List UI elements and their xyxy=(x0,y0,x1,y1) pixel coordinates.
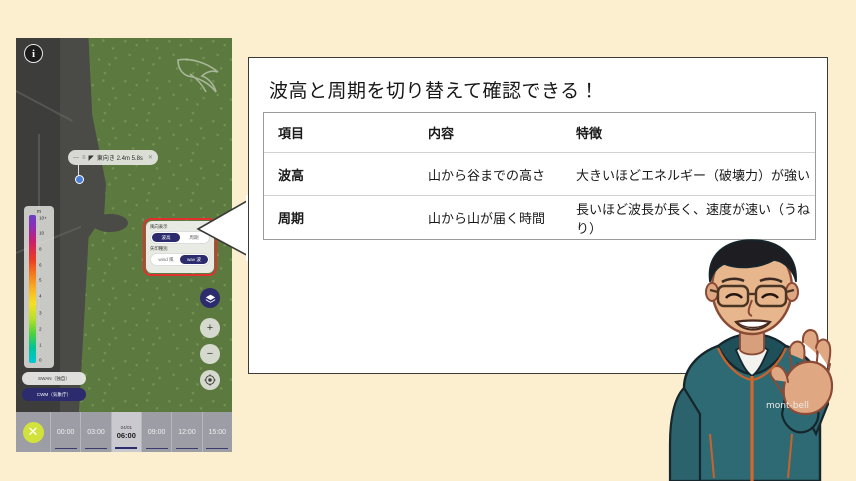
timeline-slot-time: 00:00 xyxy=(57,428,75,437)
table-row: 波高 山から谷までの高さ 大きいほどエネルギー（破壊力）が強い xyxy=(264,153,815,196)
legend-tick: 10+ xyxy=(39,215,47,220)
legend-tick: 8 xyxy=(39,247,42,252)
comparison-table: 項目 内容 特徴 波高 山から谷までの高さ 大きいほどエネルギー（破壊力）が強い… xyxy=(263,112,816,240)
column-header-feature: 特徴 xyxy=(576,123,815,142)
close-icon[interactable]: ✕ xyxy=(148,154,153,161)
page-title: 波高と周期を切り替えて確認できる！ xyxy=(269,76,599,103)
column-header-item: 項目 xyxy=(278,123,428,142)
legend-tick: 2 xyxy=(39,326,42,331)
timeline-slot-time: 09:00 xyxy=(148,428,166,437)
timeline-slot[interactable]: 15:00 xyxy=(202,412,232,452)
cell-item: 周期 xyxy=(278,208,428,227)
jacket-brand-label: mont-bell xyxy=(766,401,809,411)
layers-glyph xyxy=(205,293,216,304)
legend-tick: 3 xyxy=(39,310,42,315)
timeline-slot[interactable]: 09:00 xyxy=(141,412,171,452)
zoom-in-label: + xyxy=(207,322,213,334)
model-button-cwm[interactable]: CWM（気象庁） xyxy=(22,388,86,401)
layers-icon[interactable] xyxy=(200,288,220,308)
cell-feature: 長いほど波長が長く、速度が速い（うねり） xyxy=(576,199,815,237)
map-headland xyxy=(92,214,128,232)
timeline-slot-time: 12:00 xyxy=(178,428,196,437)
table-row: 周期 山から山が届く時間 長いほど波長が長く、速度が速い（うねり） xyxy=(264,196,815,239)
legend-tick: 10 xyxy=(39,230,44,235)
cell-content: 山から山が届く時間 xyxy=(428,208,576,227)
legend-tick-list: 10+ 10 8 6 5 4 3 2 1 0 xyxy=(38,215,52,363)
timeline-slot[interactable]: 12:00 xyxy=(171,412,201,452)
timeline-slot-selected[interactable]: 04/01 06:00 xyxy=(111,412,141,452)
legend-tick: 5 xyxy=(39,278,42,283)
presenter-illustration: mont-bell xyxy=(648,238,856,481)
timeline-slot-list[interactable]: 00:00 03:00 04/01 06:00 09:00 12:00 xyxy=(50,412,232,452)
timeline-slot-time: 03:00 xyxy=(87,428,105,437)
close-icon: ✕ xyxy=(23,422,44,443)
info-icon-label: i xyxy=(32,48,35,60)
legend-tick: 1 xyxy=(39,343,42,348)
column-header-content: 内容 xyxy=(428,123,576,142)
timeline-slot-time: 15:00 xyxy=(209,428,227,437)
chip-dash-icon: — xyxy=(73,155,79,161)
map-pin-dot[interactable] xyxy=(75,175,84,184)
cell-item: 波高 xyxy=(278,165,428,184)
chip-value-text: 東向き 2.4m 5.8s xyxy=(97,153,143,162)
zoom-out-button[interactable]: − xyxy=(200,344,220,364)
zoom-in-button[interactable]: + xyxy=(200,318,220,338)
legend-color-bar xyxy=(29,215,36,363)
map-info-chip[interactable]: — ≡ ◤ 東向き 2.4m 5.8s ✕ xyxy=(68,150,158,165)
timeline-slot[interactable]: 03:00 xyxy=(80,412,110,452)
timeline-close-button[interactable]: ✕ xyxy=(16,412,50,452)
cell-content: 山から谷までの高さ xyxy=(428,165,576,184)
zoom-out-label: − xyxy=(207,348,213,360)
chip-direction-arrow-icon: ◤ xyxy=(89,154,94,162)
chip-menu-icon[interactable]: ≡ xyxy=(82,155,86,161)
wave-arrow-glyph xyxy=(172,56,230,98)
timeline-slot[interactable]: 00:00 xyxy=(50,412,80,452)
time-slider[interactable]: ✕ 00:00 03:00 04/01 06:00 09:00 xyxy=(16,412,232,452)
wave-height-legend: m 10+ 10 8 6 5 4 3 2 1 0 xyxy=(24,206,54,368)
cell-feature: 大きいほどエネルギー（破壊力）が強い xyxy=(576,165,815,184)
legend-tick: 0 xyxy=(39,358,42,363)
legend-tick: 4 xyxy=(39,294,42,299)
legend-tick: 6 xyxy=(39,263,42,268)
locate-glyph xyxy=(204,374,216,386)
model-selector[interactable]: SWAN（独自） CWM（気象庁） xyxy=(22,372,86,404)
timeline-slot-time: 06:00 xyxy=(117,431,136,440)
slide-canvas: i — ≡ ◤ 東向き 2.4m 5.8s ✕ m 10+ 10 8 6 5 4 xyxy=(0,0,856,481)
model-button-swan[interactable]: SWAN（独自） xyxy=(22,372,86,385)
info-icon[interactable]: i xyxy=(24,44,43,63)
locate-icon[interactable] xyxy=(200,370,220,390)
timeline-slot-date: 04/01 xyxy=(121,425,133,431)
table-header-row: 項目 内容 特徴 xyxy=(264,113,815,153)
callout-tail xyxy=(196,193,254,263)
